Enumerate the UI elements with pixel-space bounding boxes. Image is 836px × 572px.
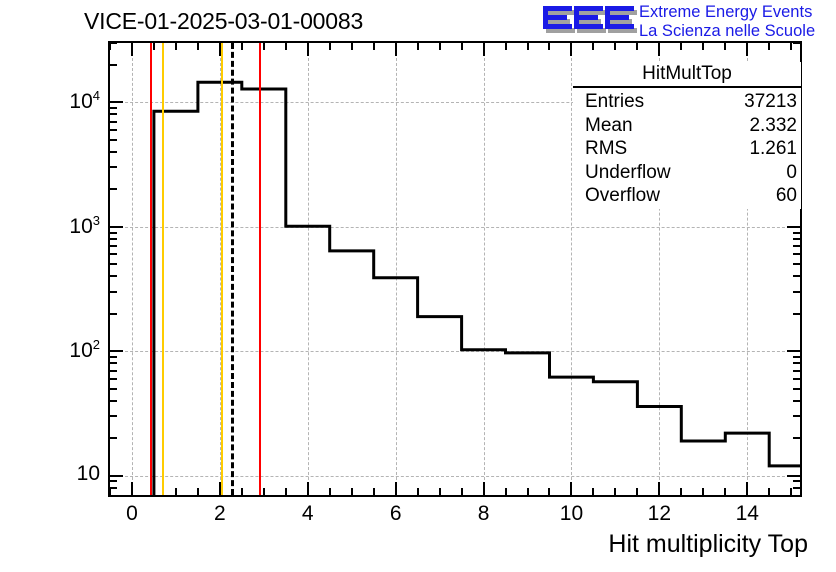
- x-tick-minor-top: [153, 43, 155, 50]
- x-tick-minor: [548, 488, 550, 495]
- y-tick-minor: [110, 370, 117, 372]
- y-tick-minor-right: [793, 42, 800, 44]
- stats-row: Overflow60: [573, 184, 801, 208]
- y-tick-minor: [110, 400, 117, 402]
- stats-row-key: Mean: [585, 114, 633, 138]
- x-tick-minor: [241, 488, 243, 495]
- x-tick-major-top: [395, 43, 397, 56]
- x-tick-major-top: [746, 43, 748, 56]
- x-tick-minor-top: [680, 43, 682, 50]
- y-tick-minor: [110, 253, 117, 255]
- y-tick-minor: [110, 188, 117, 190]
- stats-row-value: 0: [786, 161, 797, 185]
- y-tick-minor: [110, 129, 117, 131]
- y-tick-minor: [110, 291, 117, 293]
- y-tick-minor-right: [793, 400, 800, 402]
- x-tick-major-top: [658, 43, 660, 56]
- y-tick-minor: [110, 121, 117, 123]
- stats-row-key: Underflow: [585, 161, 671, 185]
- y-tick-minor: [110, 245, 117, 247]
- x-tick-minor-top: [790, 43, 792, 50]
- x-tick-minor-top: [329, 43, 331, 50]
- x-tick-minor: [153, 488, 155, 495]
- x-tick-minor-top: [702, 43, 704, 50]
- x-tick-label: 4: [278, 502, 338, 526]
- stats-rows: Entries37213Mean2.332RMS1.261Underflow0O…: [573, 90, 801, 208]
- x-tick-minor: [724, 488, 726, 495]
- x-tick-minor: [351, 488, 353, 495]
- y-tick-minor: [110, 437, 117, 439]
- x-tick-major-top: [307, 43, 309, 56]
- x-tick-minor: [790, 488, 792, 495]
- y-tick-minor-right: [793, 253, 800, 255]
- x-tick-minor: [373, 488, 375, 495]
- x-tick-label: 6: [366, 502, 426, 526]
- stats-row-value: 1.261: [749, 137, 797, 161]
- y-tick-major: [110, 101, 123, 103]
- x-tick-minor-top: [592, 43, 594, 50]
- x-tick-minor: [636, 488, 638, 495]
- y-tick-minor: [110, 151, 117, 153]
- stats-row-key: Entries: [585, 90, 644, 114]
- x-tick-minor: [768, 488, 770, 495]
- y-tick-label: 102: [26, 337, 100, 363]
- x-tick-major: [131, 482, 133, 495]
- x-tick-minor-top: [614, 43, 616, 50]
- y-tick-minor-right: [793, 378, 800, 380]
- x-tick-label: 0: [102, 502, 162, 526]
- x-tick-minor: [263, 488, 265, 495]
- y-tick-minor: [110, 275, 117, 277]
- x-tick-minor-top: [527, 43, 529, 50]
- x-axis-title: Hit multiplicity Top: [608, 530, 808, 559]
- y-tick-minor-right: [793, 415, 800, 417]
- eee-logo-line1: Extreme Energy Events: [639, 3, 834, 22]
- y-tick-minor-right: [793, 356, 800, 358]
- y-tick-minor-right: [793, 480, 800, 482]
- y-tick-minor-right: [793, 370, 800, 372]
- y-tick-minor: [110, 362, 117, 364]
- y-tick-minor: [110, 113, 117, 115]
- y-tick-minor: [110, 378, 117, 380]
- x-tick-minor-top: [724, 43, 726, 50]
- x-tick-minor: [197, 488, 199, 495]
- y-tick-minor: [110, 238, 117, 240]
- x-tick-major: [395, 482, 397, 495]
- x-tick-minor-top: [197, 43, 199, 50]
- page-title: VICE-01-2025-03-01-00083: [84, 8, 363, 35]
- y-tick-minor: [110, 415, 117, 417]
- x-tick-minor-top: [351, 43, 353, 50]
- y-tick-minor-right: [793, 313, 800, 315]
- x-tick-minor-top: [505, 43, 507, 50]
- x-tick-minor-top: [109, 43, 111, 50]
- x-tick-minor-top: [373, 43, 375, 50]
- y-tick-major-right: [787, 350, 800, 352]
- y-tick-minor-right: [793, 263, 800, 265]
- x-tick-major: [658, 482, 660, 495]
- x-tick-minor: [109, 488, 111, 495]
- x-tick-label: 2: [190, 502, 250, 526]
- stats-row: Underflow0: [573, 161, 801, 185]
- stats-row: RMS1.261: [573, 137, 801, 161]
- x-tick-minor: [175, 488, 177, 495]
- eee-logo-mark: [541, 4, 637, 39]
- x-tick-major-top: [483, 43, 485, 56]
- stats-row-key: RMS: [585, 137, 627, 161]
- y-tick-major: [110, 350, 123, 352]
- y-tick-minor: [110, 263, 117, 265]
- y-tick-minor-right: [793, 232, 800, 234]
- x-tick-major-top: [570, 43, 572, 56]
- y-tick-label: 10: [26, 462, 100, 486]
- y-tick-minor-right: [793, 437, 800, 439]
- eee-logo-line2: La Scienza nelle Scuole: [639, 22, 834, 41]
- x-tick-major-top: [131, 43, 133, 56]
- y-tick-minor: [110, 356, 117, 358]
- y-tick-major: [110, 226, 123, 228]
- eee-logo: Extreme Energy Events La Scienza nelle S…: [541, 3, 831, 41]
- stats-title: HitMultTop: [573, 62, 801, 88]
- x-tick-minor-top: [263, 43, 265, 50]
- y-tick-label: 103: [26, 213, 100, 239]
- y-tick-minor: [110, 64, 117, 66]
- x-tick-minor-top: [439, 43, 441, 50]
- y-tick-minor: [110, 107, 117, 109]
- x-tick-label: 14: [717, 502, 777, 526]
- y-tick-minor-right: [793, 362, 800, 364]
- x-tick-minor-top: [548, 43, 550, 50]
- y-tick-minor: [110, 139, 117, 141]
- y-tick-major: [110, 475, 123, 477]
- stats-row: Entries37213: [573, 90, 801, 114]
- x-tick-minor: [527, 488, 529, 495]
- x-tick-minor: [505, 488, 507, 495]
- y-tick-minor: [110, 313, 117, 315]
- x-tick-minor: [592, 488, 594, 495]
- stats-box: HitMultTop Entries37213Mean2.332RMS1.261…: [573, 62, 801, 209]
- x-tick-label: 10: [541, 502, 601, 526]
- x-tick-label: 12: [629, 502, 689, 526]
- x-tick-minor-top: [417, 43, 419, 50]
- y-tick-minor: [110, 42, 117, 44]
- y-tick-minor-right: [793, 291, 800, 293]
- y-tick-minor-right: [793, 238, 800, 240]
- x-tick-minor-top: [636, 43, 638, 50]
- x-tick-major: [570, 482, 572, 495]
- x-tick-minor-top: [285, 43, 287, 50]
- y-tick-minor: [110, 487, 117, 489]
- y-tick-major-right: [787, 475, 800, 477]
- x-tick-minor-top: [175, 43, 177, 50]
- stats-row-value: 60: [776, 184, 797, 208]
- x-tick-minor: [614, 488, 616, 495]
- x-tick-minor: [417, 488, 419, 495]
- x-tick-minor-top: [768, 43, 770, 50]
- y-tick-major-right: [787, 226, 800, 228]
- x-tick-minor: [461, 488, 463, 495]
- eee-logo-text: Extreme Energy Events La Scienza nelle S…: [639, 3, 834, 41]
- x-tick-minor: [702, 488, 704, 495]
- y-tick-minor-right: [793, 275, 800, 277]
- x-tick-label: 8: [454, 502, 514, 526]
- y-tick-minor: [110, 388, 117, 390]
- stats-row-value: 2.332: [749, 114, 797, 138]
- x-tick-major: [219, 482, 221, 495]
- y-tick-minor: [110, 232, 117, 234]
- x-tick-minor-top: [461, 43, 463, 50]
- y-tick-minor-right: [793, 245, 800, 247]
- stats-row: Mean2.332: [573, 114, 801, 138]
- x-tick-minor-top: [241, 43, 243, 50]
- x-tick-minor: [680, 488, 682, 495]
- y-tick-minor: [110, 166, 117, 168]
- x-tick-minor: [439, 488, 441, 495]
- x-tick-major-top: [219, 43, 221, 56]
- x-tick-major: [483, 482, 485, 495]
- x-tick-major: [307, 482, 309, 495]
- y-tick-minor-right: [793, 388, 800, 390]
- x-tick-minor: [329, 488, 331, 495]
- y-tick-minor: [110, 480, 117, 482]
- y-tick-minor-right: [793, 487, 800, 489]
- stats-row-value: 37213: [744, 90, 797, 114]
- x-tick-major: [746, 482, 748, 495]
- y-tick-label: 104: [26, 88, 100, 114]
- x-tick-minor: [285, 488, 287, 495]
- stats-row-key: Overflow: [585, 184, 660, 208]
